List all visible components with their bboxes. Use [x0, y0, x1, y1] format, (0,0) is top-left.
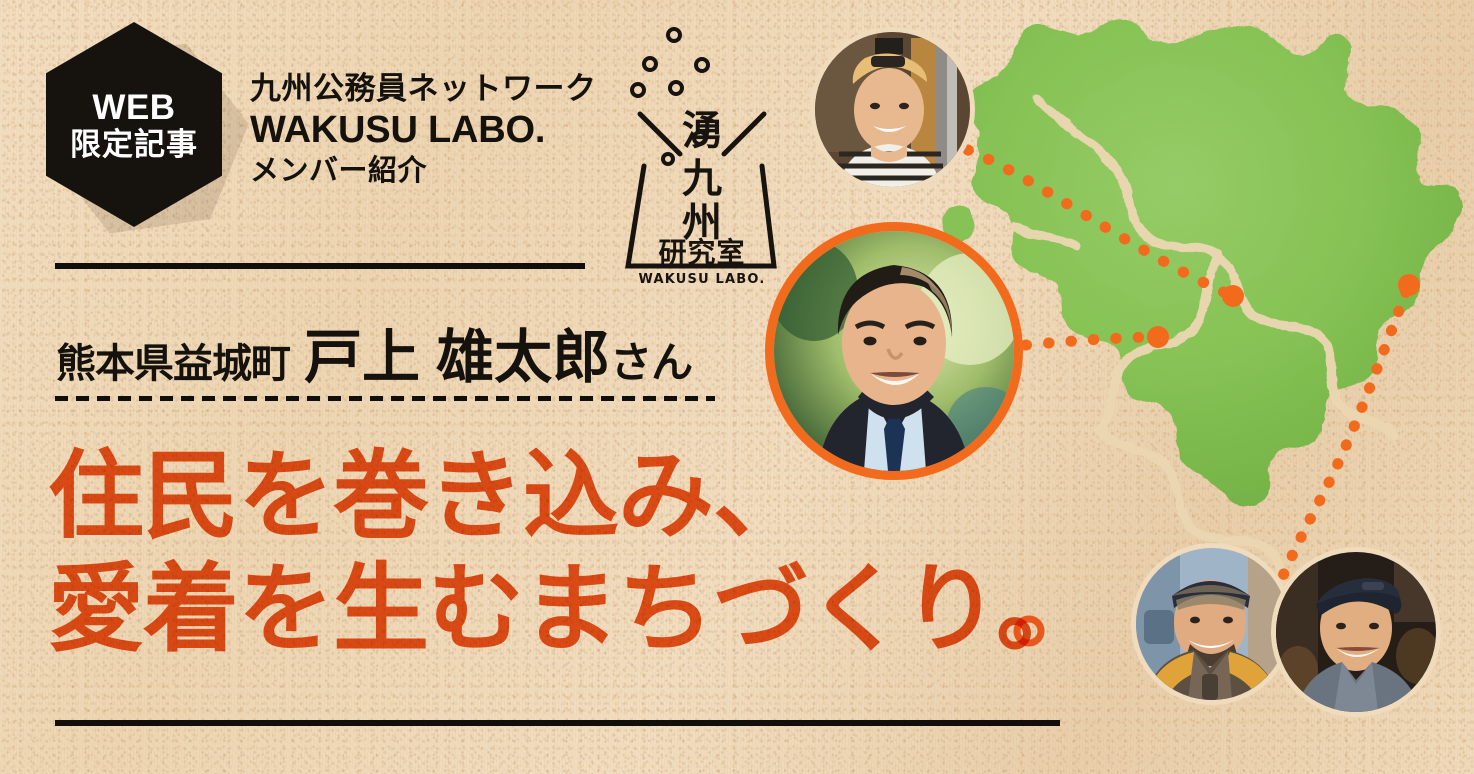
- photo-main-subject[interactable]: [765, 222, 1023, 480]
- hero-banner: WEB 限定記事 九州公務員ネットワーク WAKUSU LABO. メンバー紹介…: [0, 0, 1474, 774]
- wakusu-labo-logo: 湧 九 州 研究室 WAKUSU LABO.: [614, 8, 790, 290]
- kicker-line2: WAKUSU LABO.: [250, 109, 650, 152]
- photo-bottom-left[interactable]: [1136, 548, 1288, 700]
- photo-main-image: [774, 231, 1014, 471]
- connector-bottom-photos: [1282, 292, 1406, 578]
- logo-romaji: WAKUSU LABO.: [638, 272, 765, 287]
- kicker-block: 九州公務員ネットワーク WAKUSU LABO. メンバー紹介: [250, 72, 650, 189]
- badge-line1: WEB: [92, 90, 175, 125]
- dashed-rule: [55, 396, 715, 401]
- kicker-line3: メンバー紹介: [250, 155, 650, 188]
- marker-fukuoka[interactable]: [1222, 285, 1244, 307]
- photo-top-image: [815, 32, 970, 187]
- web-exclusive-badge: WEB 限定記事: [46, 22, 236, 242]
- top-rule: [55, 263, 585, 269]
- logo-bottom-chars: 研究室: [658, 236, 745, 269]
- connector-main-photo: [1026, 337, 1152, 345]
- subject-honorific: さん: [610, 329, 692, 390]
- subject-prefecture-town: 熊本県益城町: [56, 331, 290, 389]
- badge-line2: 限定記事: [70, 129, 198, 160]
- article-headline: 住民を巻き込み、 愛着を生むまちづくり。: [48, 440, 1108, 667]
- photo-bottom-left-image: [1136, 548, 1288, 700]
- headline-line2: 愛着を生むまちづくり。: [48, 553, 1108, 666]
- photo-bottom-right[interactable]: [1276, 552, 1436, 712]
- subject-person-name: 戸上 雄太郎: [304, 310, 610, 394]
- marker-east-coast[interactable]: [1398, 274, 1420, 296]
- kicker-line1: 九州公務員ネットワーク: [250, 72, 650, 107]
- logo-char-2: 九: [682, 156, 722, 202]
- photo-bottom-right-image: [1276, 552, 1436, 712]
- marker-oita[interactable]: [1147, 326, 1169, 348]
- photo-top[interactable]: [815, 32, 970, 187]
- logo-char-1: 湧: [682, 108, 722, 154]
- bottom-rule: [55, 720, 1060, 726]
- subject-name-line: 熊本県益城町 戸上 雄太郎 さん: [56, 310, 692, 394]
